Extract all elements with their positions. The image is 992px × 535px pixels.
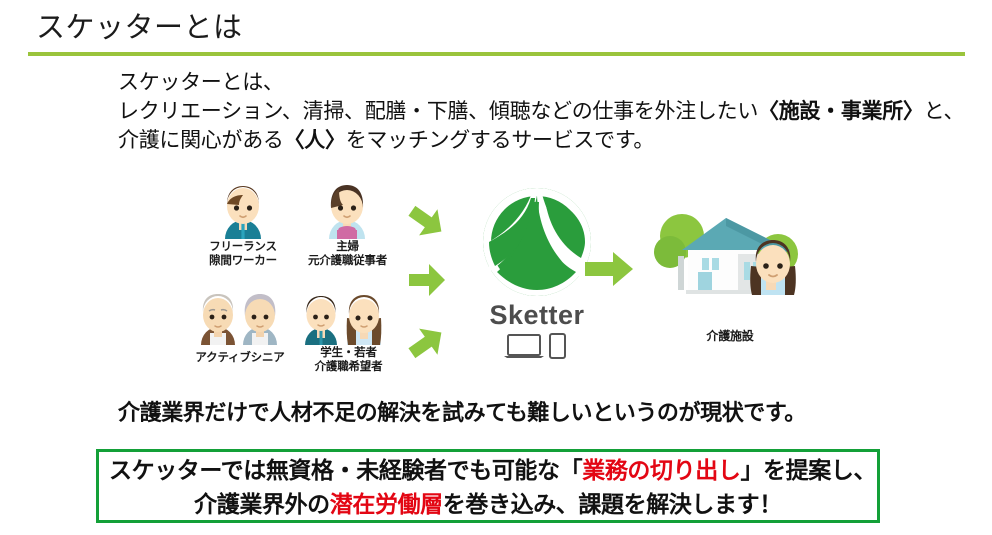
housewife-person-illustration — [295, 180, 400, 240]
laptop-icon — [504, 335, 544, 358]
segment-housewife-label-1: 主婦 — [295, 240, 400, 254]
user-segments-group: フリーランス 隙間ワーカー — [185, 180, 400, 385]
laptop-and-smartphone-icon — [504, 333, 570, 359]
active-senior-illustration — [185, 288, 295, 346]
callout-line-1-text-b: 」を提案し、 — [740, 457, 876, 483]
intro-line-2: レクリエーション、清掃、配膳・下膳、傾聴などの仕事を外注したい〈施設・事業所〉と… — [118, 97, 978, 126]
housewife-avatar-icon — [295, 180, 400, 240]
page-title: スケッターとは — [36, 8, 243, 48]
mid-statement: 介護業界だけで人材不足の解決を試みても難しいというのが現状です。 — [118, 398, 806, 428]
students-illustration — [297, 288, 400, 346]
intro-line-3: 介護に関心がある〈人〉をマッチングするサービスです。 — [118, 126, 978, 155]
arrow-up-right-icon — [403, 319, 451, 366]
segment-students-label-1: 学生・若者 — [297, 346, 400, 360]
intro-emphasis-facility: 〈施設・事業所〉 — [758, 100, 924, 123]
intro-line-3-text-c: をマッチングするサービスです。 — [346, 129, 654, 152]
students-avatar-icon — [297, 288, 400, 346]
segment-students-label-2: 介護職希望者 — [297, 360, 400, 374]
callout-highlight-senzai: 潜在労働層 — [330, 491, 443, 517]
title-divider — [28, 52, 965, 56]
callout-line-2-text-a: 介護業界外の — [194, 491, 330, 517]
intro-paragraph: スケッターとは、 レクリエーション、清掃、配膳・下膳、傾聴などの仕事を外注したい… — [118, 68, 978, 155]
intro-line-1: スケッターとは、 — [118, 68, 978, 97]
active-senior-avatar-icon — [185, 288, 295, 346]
segment-freelance: フリーランス 隙間ワーカー — [193, 180, 293, 268]
arrow-to-facility — [585, 252, 633, 291]
freelance-person-illustration — [193, 180, 293, 240]
callout-line-2: 介護業界外の潜在労働層を巻き込み、課題を解決します！ — [99, 487, 877, 521]
segment-freelance-label-2: 隙間ワーカー — [193, 254, 293, 268]
intro-line-2-text-c: と、 — [924, 100, 965, 123]
segment-active-senior-label-1: アクティブシニア — [185, 351, 295, 365]
intro-emphasis-person: 〈人〉 — [284, 129, 346, 152]
segment-housewife: 主婦 元介護職従事者 — [295, 180, 400, 268]
intro-line-1-text: スケッターとは、 — [118, 71, 284, 94]
service-flow-diagram: フリーランス 隙間ワーカー — [185, 180, 825, 385]
arrow-right-icon — [409, 264, 445, 296]
arrow-down-right-icon — [403, 198, 451, 245]
segment-students: 学生・若者 介護職希望者 — [297, 288, 400, 374]
devices-icons — [457, 333, 617, 364]
callout-highlight-gyomu: 業務の切り出し — [582, 457, 740, 483]
callout-line-1-text-a: スケッターでは無資格・未経験者でも可能な「 — [109, 457, 582, 483]
flow-arrows-icon — [403, 198, 459, 368]
arrow-right-large-icon — [585, 252, 633, 286]
segment-freelance-label-1: フリーランス — [193, 240, 293, 254]
intro-line-2-text-a: レクリエーション、清掃、配膳・下膳、傾聴などの仕事を外注したい — [118, 100, 758, 123]
callout-line-1: スケッターでは無資格・未経験者でも可能な「業務の切り出し」を提案し、 — [99, 453, 877, 487]
callout-box: スケッターでは無資格・未経験者でも可能な「業務の切り出し」を提案し、 介護業界外… — [96, 449, 880, 523]
segment-housewife-label-2: 元介護職従事者 — [295, 254, 400, 268]
freelance-avatar-icon — [193, 180, 293, 240]
flow-arrows-group — [403, 198, 459, 363]
care-facility-block: 介護施設 — [640, 200, 820, 344]
slide-root: スケッターとは スケッターとは、 レクリエーション、清掃、配膳・下膳、傾聴などの… — [0, 0, 992, 535]
callout-line-2-text-b: を巻き込み、課題を解決します！ — [443, 491, 782, 517]
intro-line-3-text-a: 介護に関心がある — [118, 129, 284, 152]
segment-active-senior: アクティブシニア — [185, 288, 295, 365]
sketter-wordmark: Sketter — [457, 300, 617, 331]
smartphone-icon — [550, 334, 565, 358]
care-facility-label: 介護施設 — [640, 327, 820, 344]
care-facility-illustration — [640, 200, 820, 320]
sketter-logo-icon — [481, 186, 593, 298]
